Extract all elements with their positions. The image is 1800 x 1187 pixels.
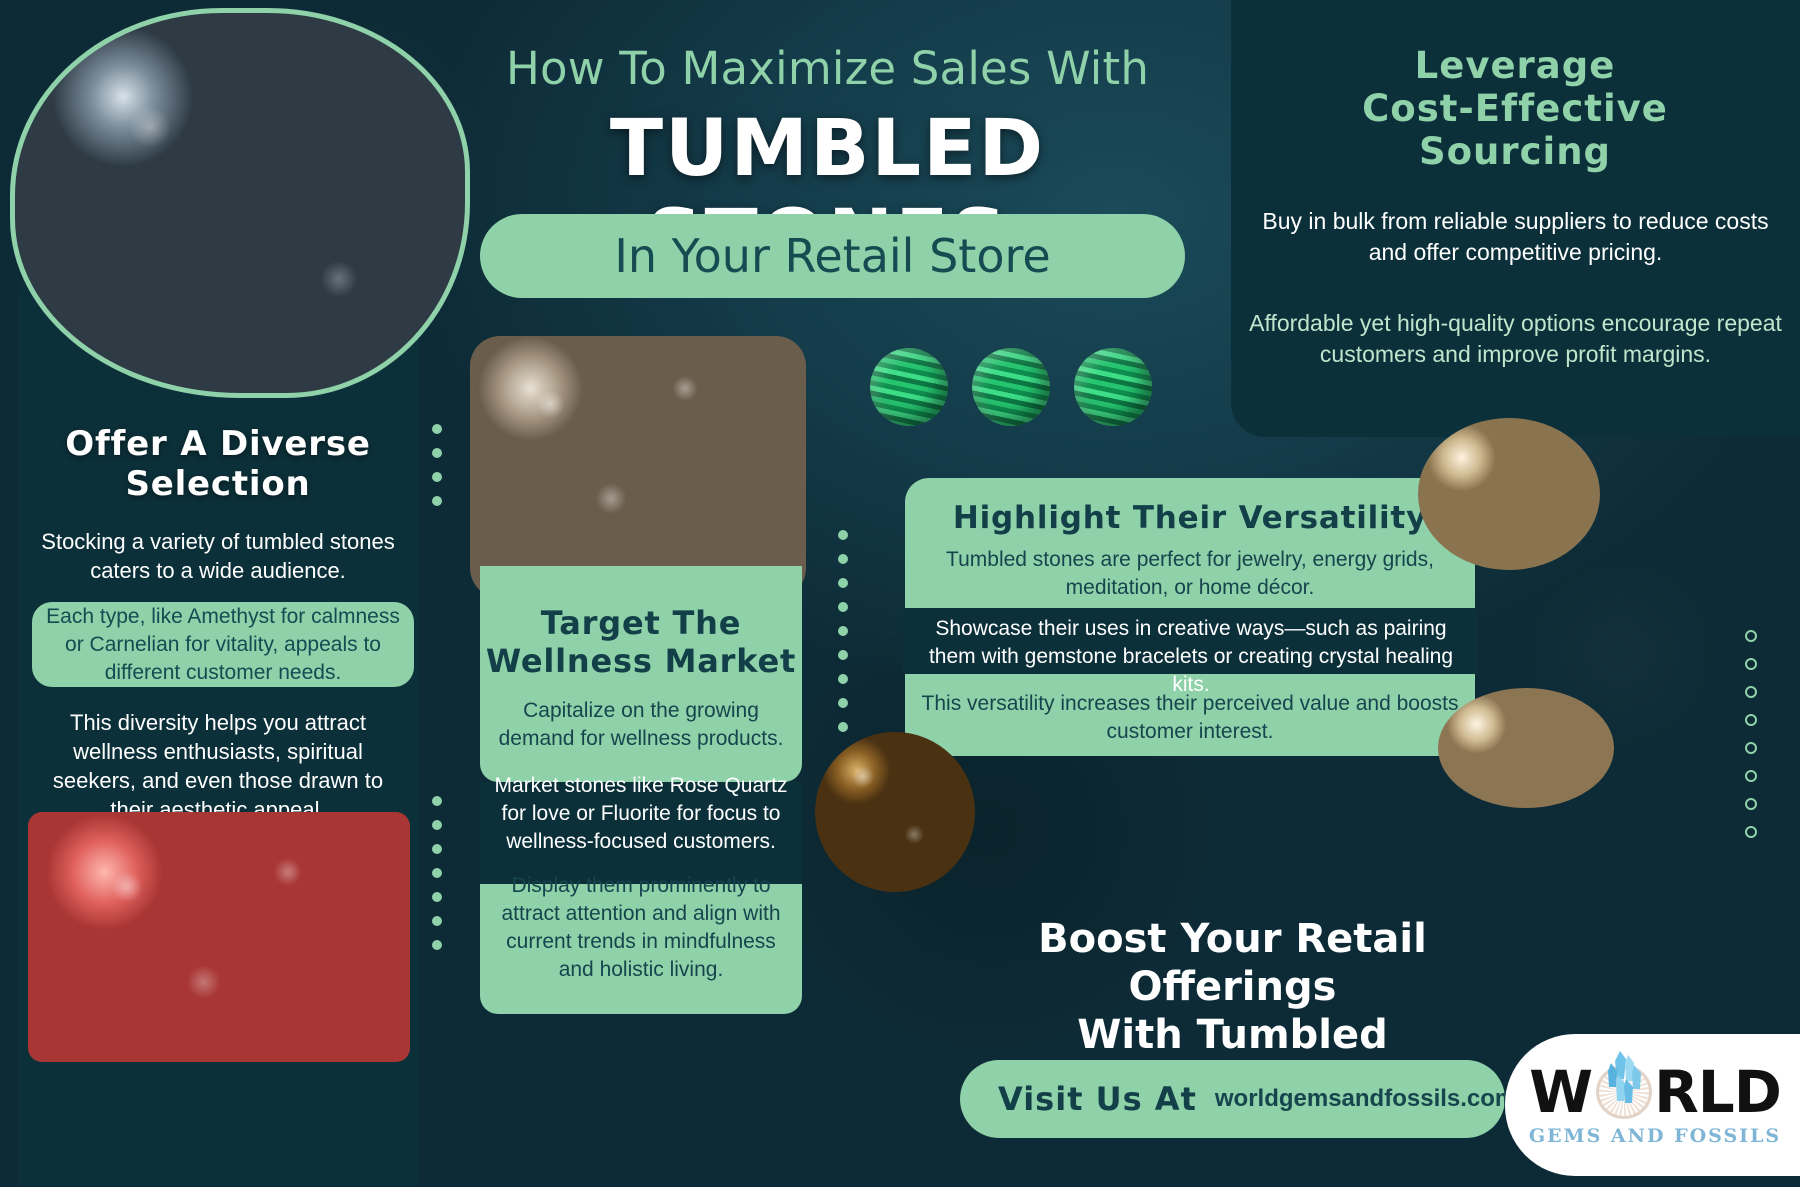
dot bbox=[838, 554, 848, 564]
malachite-bead-icon bbox=[972, 348, 1050, 426]
dot bbox=[432, 496, 442, 506]
wellness-title: Target The Wellness Market bbox=[482, 604, 800, 680]
diverse-title-line2: Selection bbox=[32, 464, 404, 504]
sourcing-title-line2: Cost-Effective bbox=[1245, 87, 1785, 130]
header-subtitle-pill: In Your Retail Store bbox=[480, 214, 1185, 298]
diverse-paragraph-2: This diversity helps you attract wellnes… bbox=[40, 708, 396, 824]
dot bbox=[432, 820, 442, 830]
dot bbox=[432, 424, 442, 434]
wellness-title-line2: Wellness Market bbox=[482, 642, 800, 680]
hematite-stones-image bbox=[10, 8, 470, 398]
malachite-bead-icon bbox=[870, 348, 948, 426]
dot-outline bbox=[1745, 798, 1757, 810]
versatility-paragraph-2: This versatility increases their perceiv… bbox=[920, 690, 1460, 746]
dot-separator-left-bottom bbox=[432, 796, 442, 950]
rhodochrosite-stones-image bbox=[28, 812, 410, 1062]
citrine-stones-image-top bbox=[1418, 418, 1600, 570]
wellness-paragraph-3: Display them prominently to attract atte… bbox=[488, 872, 794, 984]
dot-outline bbox=[1745, 826, 1757, 838]
dot bbox=[432, 796, 442, 806]
brand-logo: W RLD GEMS AND FOSSILS bbox=[1505, 1034, 1800, 1176]
dot-separator-center bbox=[838, 530, 848, 732]
malachite-bead-icon bbox=[1074, 348, 1152, 426]
logo-tagline: GEMS AND FOSSILS bbox=[1529, 1125, 1781, 1147]
dot bbox=[432, 916, 442, 926]
visit-us-label: Visit Us At bbox=[998, 1080, 1197, 1118]
versatility-title: Highlight Their Versatility bbox=[912, 500, 1468, 536]
visit-us-pill[interactable]: Visit Us At worldgemsandfossils.com bbox=[960, 1060, 1505, 1138]
logo-word-right: RLD bbox=[1654, 1063, 1781, 1121]
sourcing-title-line1: Leverage bbox=[1245, 44, 1785, 87]
dot-column-right-edge bbox=[1745, 630, 1757, 838]
dot bbox=[838, 722, 848, 732]
dot bbox=[838, 578, 848, 588]
dot-outline bbox=[1745, 630, 1757, 642]
dot bbox=[838, 650, 848, 660]
dot bbox=[432, 844, 442, 854]
dot-outline bbox=[1745, 714, 1757, 726]
tiger-eye-stones-image bbox=[815, 732, 975, 892]
infographic-poster: How To Maximize Sales With TUMBLED STONE… bbox=[0, 0, 1800, 1187]
website-url[interactable]: worldgemsandfossils.com bbox=[1215, 1085, 1516, 1113]
dot-separator-left-top bbox=[432, 424, 442, 506]
header-kicker: How To Maximize Sales With bbox=[440, 42, 1215, 95]
dot bbox=[432, 940, 442, 950]
header-subtitle: In Your Retail Store bbox=[614, 229, 1050, 283]
diverse-paragraph-1: Stocking a variety of tumbled stones cat… bbox=[40, 527, 396, 585]
logo-wordmark: W RLD bbox=[1529, 1063, 1781, 1121]
shell-crystal-icon bbox=[1592, 1063, 1654, 1121]
sourcing-paragraph-2: Affordable yet high-quality options enco… bbox=[1248, 308, 1783, 370]
diverse-highlight-text: Each type, like Amethyst for calmness or… bbox=[42, 603, 404, 687]
wellness-title-line1: Target The bbox=[482, 604, 800, 642]
citrine-stones-image-bottom bbox=[1438, 688, 1614, 808]
dot bbox=[838, 530, 848, 540]
dot-outline bbox=[1745, 686, 1757, 698]
diverse-title: Offer A Diverse Selection bbox=[32, 424, 404, 504]
malachite-bead-row bbox=[870, 348, 1152, 426]
dot bbox=[838, 626, 848, 636]
diverse-highlight-pill: Each type, like Amethyst for calmness or… bbox=[32, 602, 414, 687]
dot bbox=[432, 892, 442, 902]
dot bbox=[432, 868, 442, 878]
logo-word-left: W bbox=[1529, 1063, 1592, 1121]
crystal-cluster-icon bbox=[1600, 1049, 1648, 1111]
dot bbox=[838, 698, 848, 708]
dot bbox=[838, 674, 848, 684]
wellness-paragraph-2: Market stones like Rose Quartz for love … bbox=[488, 772, 794, 856]
dot-outline bbox=[1745, 742, 1757, 754]
smoky-quartz-stones-image bbox=[470, 336, 806, 598]
dot-outline bbox=[1745, 770, 1757, 782]
sourcing-title: Leverage Cost-Effective Sourcing bbox=[1245, 44, 1785, 173]
dot-outline bbox=[1745, 658, 1757, 670]
versatility-highlight-text: Showcase their uses in creative ways—suc… bbox=[912, 615, 1470, 699]
diverse-title-line1: Offer A Diverse bbox=[32, 424, 404, 464]
sourcing-title-line3: Sourcing bbox=[1245, 130, 1785, 173]
dot bbox=[838, 602, 848, 612]
dot bbox=[432, 472, 442, 482]
versatility-paragraph-1: Tumbled stones are perfect for jewelry, … bbox=[920, 546, 1460, 602]
dot bbox=[432, 448, 442, 458]
sourcing-paragraph-1: Buy in bulk from reliable suppliers to r… bbox=[1248, 206, 1783, 268]
cta-headline-line1: Boost Your Retail Offerings bbox=[985, 915, 1480, 1011]
wellness-paragraph-1: Capitalize on the growing demand for wel… bbox=[488, 697, 794, 753]
